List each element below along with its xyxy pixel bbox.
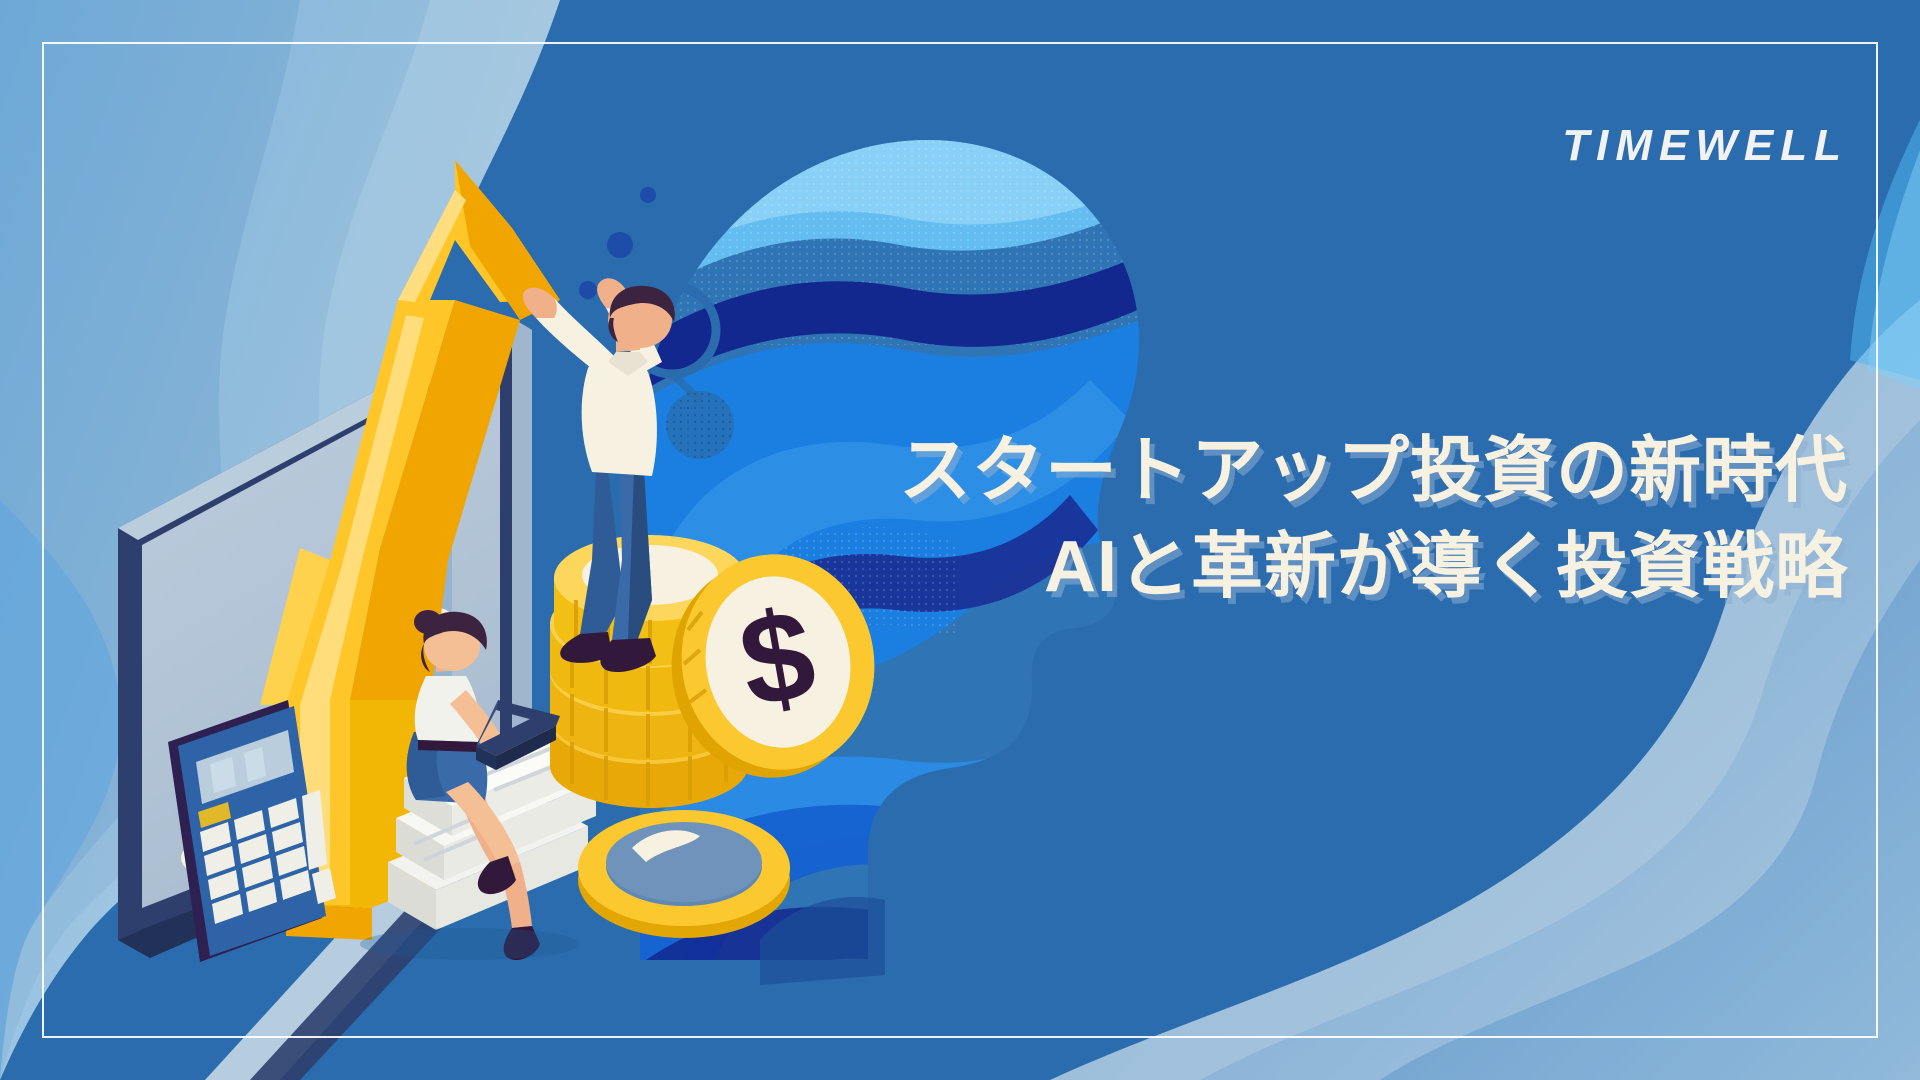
brand-logo: TIMEWELL bbox=[1562, 124, 1848, 168]
magnifier-lens bbox=[578, 810, 790, 938]
headline-line-2: AIと革新が導く投資戦略 bbox=[899, 520, 1848, 616]
headline-block: スタートアップ投資の新時代 AIと革新が導く投資戦略 bbox=[899, 424, 1848, 616]
hero-banner: $ bbox=[0, 0, 1920, 1080]
headline-line-1: スタートアップ投資の新時代 bbox=[899, 424, 1848, 520]
